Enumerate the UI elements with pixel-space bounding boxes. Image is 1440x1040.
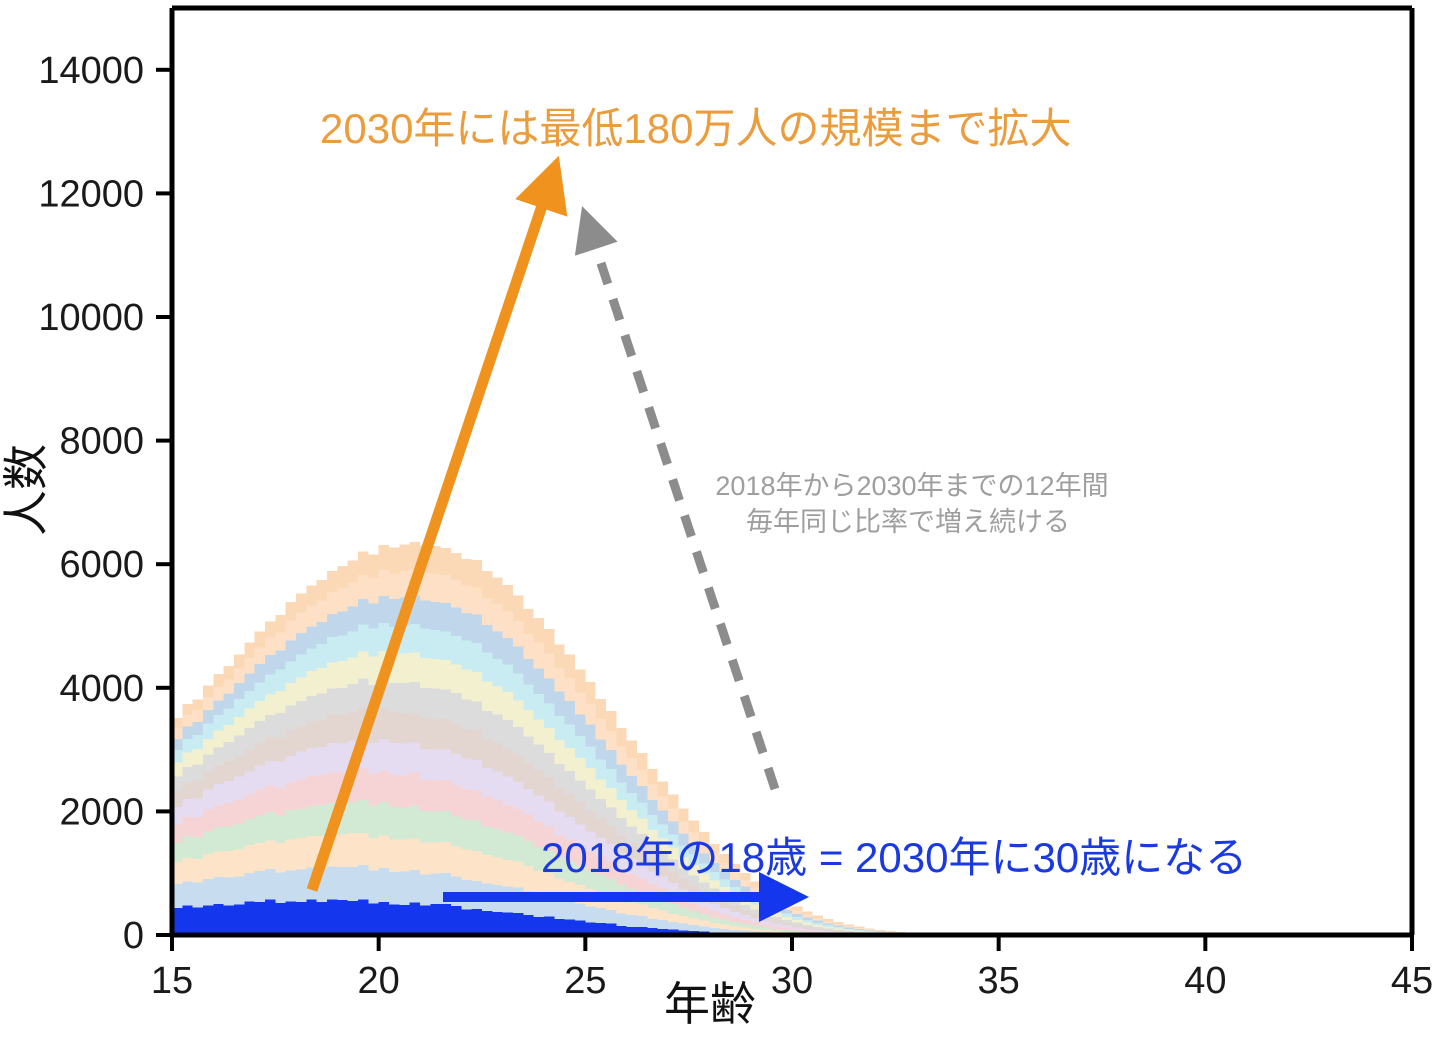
y-tick-label: 14000 bbox=[38, 50, 144, 92]
x-tick-label: 25 bbox=[564, 960, 606, 1002]
x-tick-label: 15 bbox=[151, 960, 193, 1002]
x-tick-label: 30 bbox=[771, 960, 813, 1002]
y-tick-label: 0 bbox=[123, 915, 144, 957]
orange-callout-text: 2030年には最低180万人の規模まで拡大 bbox=[320, 105, 1072, 152]
y-tick-label: 6000 bbox=[59, 544, 144, 586]
x-tick-label: 20 bbox=[358, 960, 400, 1002]
y-tick-label: 4000 bbox=[59, 668, 144, 710]
x-tick-label: 45 bbox=[1391, 960, 1433, 1002]
gray-note-line-2: 毎年同じ比率で増え続ける bbox=[746, 507, 1070, 537]
x-tick-label: 35 bbox=[978, 960, 1020, 1002]
y-tick-label: 10000 bbox=[38, 297, 144, 339]
blue-callout-text: 2018年の18歳 = 2030年に30歳になる bbox=[541, 834, 1247, 881]
gray-note-line-1: 2018年から2030年までの12年間 bbox=[715, 471, 1108, 501]
x-axis-title: 年齢 bbox=[664, 978, 756, 1030]
x-tick-label: 40 bbox=[1184, 960, 1226, 1002]
y-tick-label: 2000 bbox=[59, 791, 144, 833]
stacked-histogram-chart: 02000400060008000100001200014000 1520253… bbox=[0, 0, 1440, 1040]
y-axis-title: 人数 bbox=[0, 444, 52, 536]
y-tick-label: 8000 bbox=[59, 421, 144, 463]
y-tick-label: 12000 bbox=[38, 173, 144, 215]
y-axis-ticks: 02000400060008000100001200014000 bbox=[38, 50, 172, 957]
chart-canvas: 02000400060008000100001200014000 1520253… bbox=[0, 0, 1440, 1040]
x-axis-ticks: 15202530354045 bbox=[151, 935, 1433, 1002]
